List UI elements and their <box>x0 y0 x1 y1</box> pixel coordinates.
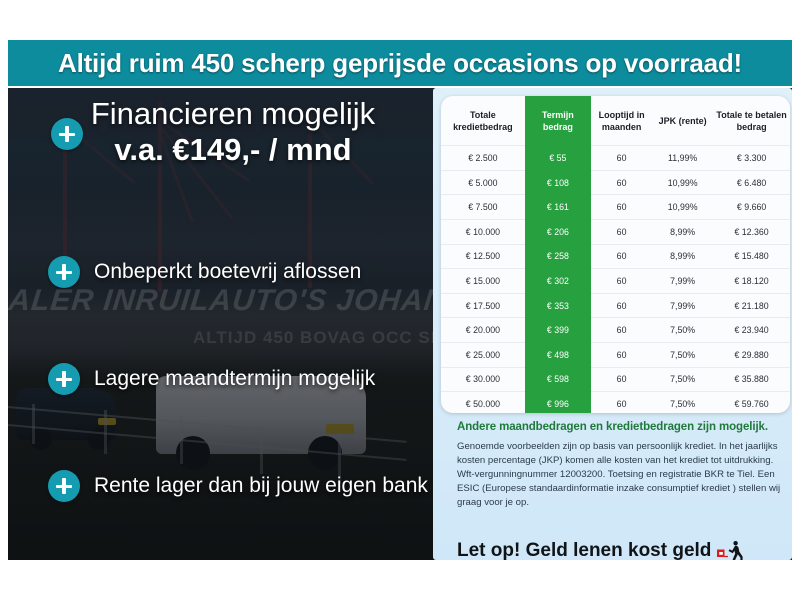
table-cell: € 598 <box>525 367 591 392</box>
table-cell: 60 <box>591 367 652 392</box>
table-cell: € 161 <box>525 195 591 220</box>
disclaimer-block: Andere maandbedragen en kredietbedragen … <box>457 421 782 510</box>
plus-icon <box>48 363 80 395</box>
table-row: € 5.000€ 1086010,99%€ 6.480 <box>441 170 790 195</box>
rate-table-card: Totale kredietbedrag Termijn bedrag Loop… <box>441 96 790 413</box>
table-cell: € 206 <box>525 220 591 245</box>
warning-text: Let op! Geld lenen kost geld <box>457 540 711 560</box>
table-cell: € 59.760 <box>713 392 790 413</box>
table-cell: 7,99% <box>652 269 713 294</box>
plus-icon <box>51 118 83 150</box>
table-cell: 10,99% <box>652 195 713 220</box>
feature-label: Onbeperkt boetevrij aflossen <box>94 260 361 284</box>
feature-list: Financieren mogelijk v.a. €149,- / mnd O… <box>8 88 438 560</box>
table-cell: 60 <box>591 392 652 413</box>
table-cell: € 353 <box>525 293 591 318</box>
table-cell: 60 <box>591 195 652 220</box>
table-cell: € 17.500 <box>441 293 525 318</box>
table-cell: € 10.000 <box>441 220 525 245</box>
table-cell: 60 <box>591 269 652 294</box>
table-cell: € 12.360 <box>713 220 790 245</box>
table-row: € 12.500€ 258608,99%€ 15.480 <box>441 244 790 269</box>
table-cell: 7,50% <box>652 318 713 343</box>
column-header-duration: Looptijd in maanden <box>591 97 652 146</box>
table-cell: 7,50% <box>652 392 713 413</box>
table-row: € 7.500€ 1616010,99%€ 9.660 <box>441 195 790 220</box>
table-cell: 11,99% <box>652 146 713 171</box>
table-cell: € 29.880 <box>713 343 790 368</box>
top-banner: Altijd ruim 450 scherp geprijsde occasio… <box>8 40 792 86</box>
table-cell: € 15.480 <box>713 244 790 269</box>
plus-icon <box>48 470 80 502</box>
table-row: € 25.000€ 498607,50%€ 29.880 <box>441 343 790 368</box>
table-cell: € 9.660 <box>713 195 790 220</box>
hero-headline-block: Financieren mogelijk v.a. €149,- / mnd <box>38 98 428 169</box>
table-cell: € 302 <box>525 269 591 294</box>
table-row: € 2.500€ 556011,99%€ 3.300 <box>441 146 790 171</box>
table-cell: 60 <box>591 293 652 318</box>
feature-label: Rente lager dan bij jouw eigen bank <box>94 474 428 498</box>
table-cell: 8,99% <box>652 220 713 245</box>
table-cell: € 7.500 <box>441 195 525 220</box>
table-cell: 7,50% <box>652 367 713 392</box>
hero-headline-primary: Financieren mogelijk <box>38 98 428 131</box>
table-cell: € 15.000 <box>441 269 525 294</box>
table-row: € 50.000€ 996607,50%€ 59.760 <box>441 392 790 413</box>
feature-item-2: Rente lager dan bij jouw eigen bank <box>48 470 428 502</box>
column-header-apr: JPK (rente) <box>652 97 713 146</box>
table-cell: 60 <box>591 343 652 368</box>
warning-row: Let op! Geld lenen kost geld <box>457 536 787 560</box>
table-row: € 20.000€ 399607,50%€ 23.940 <box>441 318 790 343</box>
table-row: € 17.500€ 353607,99%€ 21.180 <box>441 293 790 318</box>
table-cell: € 399 <box>525 318 591 343</box>
running-man-exit-icon <box>717 540 743 560</box>
table-cell: 60 <box>591 170 652 195</box>
table-cell: € 498 <box>525 343 591 368</box>
table-cell: € 23.940 <box>713 318 790 343</box>
footer-whitespace <box>0 568 800 600</box>
table-row: € 30.000€ 598607,50%€ 35.880 <box>441 367 790 392</box>
table-cell: € 35.880 <box>713 367 790 392</box>
feature-item-1: Lagere maandtermijn mogelijk <box>48 363 375 395</box>
feature-item-0: Onbeperkt boetevrij aflossen <box>48 256 361 288</box>
promo-poster: Altijd ruim 450 scherp geprijsde occasio… <box>0 0 800 568</box>
table-cell: € 3.300 <box>713 146 790 171</box>
table-cell: € 18.120 <box>713 269 790 294</box>
plus-icon <box>48 256 80 288</box>
table-cell: € 25.000 <box>441 343 525 368</box>
disclaimer-body: Genoemde voorbeelden zijn op basis van p… <box>457 440 782 510</box>
table-cell: € 2.500 <box>441 146 525 171</box>
table-row: € 15.000€ 302607,99%€ 18.120 <box>441 269 790 294</box>
table-row: € 10.000€ 206608,99%€ 12.360 <box>441 220 790 245</box>
table-cell: € 12.500 <box>441 244 525 269</box>
table-cell: 60 <box>591 244 652 269</box>
hero-headline-secondary: v.a. €149,- / mnd <box>38 131 428 170</box>
table-cell: 60 <box>591 318 652 343</box>
table-cell: € 21.180 <box>713 293 790 318</box>
table-cell: 10,99% <box>652 170 713 195</box>
table-cell: € 996 <box>525 392 591 413</box>
feature-label: Lagere maandtermijn mogelijk <box>94 367 375 391</box>
main-body: ALER INRUILAUTO'S JOHAN MEURE ALTIJD 450… <box>8 88 792 560</box>
rate-table: Totale kredietbedrag Termijn bedrag Loop… <box>441 96 790 413</box>
column-header-total-payable: Totale te betalen bedrag <box>713 97 790 146</box>
table-cell: 7,99% <box>652 293 713 318</box>
banner-headline: Altijd ruim 450 scherp geprijsde occasio… <box>58 48 742 79</box>
table-cell: 7,50% <box>652 343 713 368</box>
table-cell: 8,99% <box>652 244 713 269</box>
table-cell: € 258 <box>525 244 591 269</box>
table-cell: 60 <box>591 146 652 171</box>
table-cell: 60 <box>591 220 652 245</box>
table-cell: € 20.000 <box>441 318 525 343</box>
table-cell: € 55 <box>525 146 591 171</box>
table-cell: € 6.480 <box>713 170 790 195</box>
table-header-row: Totale kredietbedrag Termijn bedrag Loop… <box>441 97 790 146</box>
disclaimer-title: Andere maandbedragen en kredietbedragen … <box>457 421 782 433</box>
table-cell: € 108 <box>525 170 591 195</box>
table-cell: € 5.000 <box>441 170 525 195</box>
column-header-monthly-amount: Termijn bedrag <box>525 97 591 146</box>
table-cell: € 50.000 <box>441 392 525 413</box>
table-cell: € 30.000 <box>441 367 525 392</box>
column-header-total-credit: Totale kredietbedrag <box>441 97 525 146</box>
